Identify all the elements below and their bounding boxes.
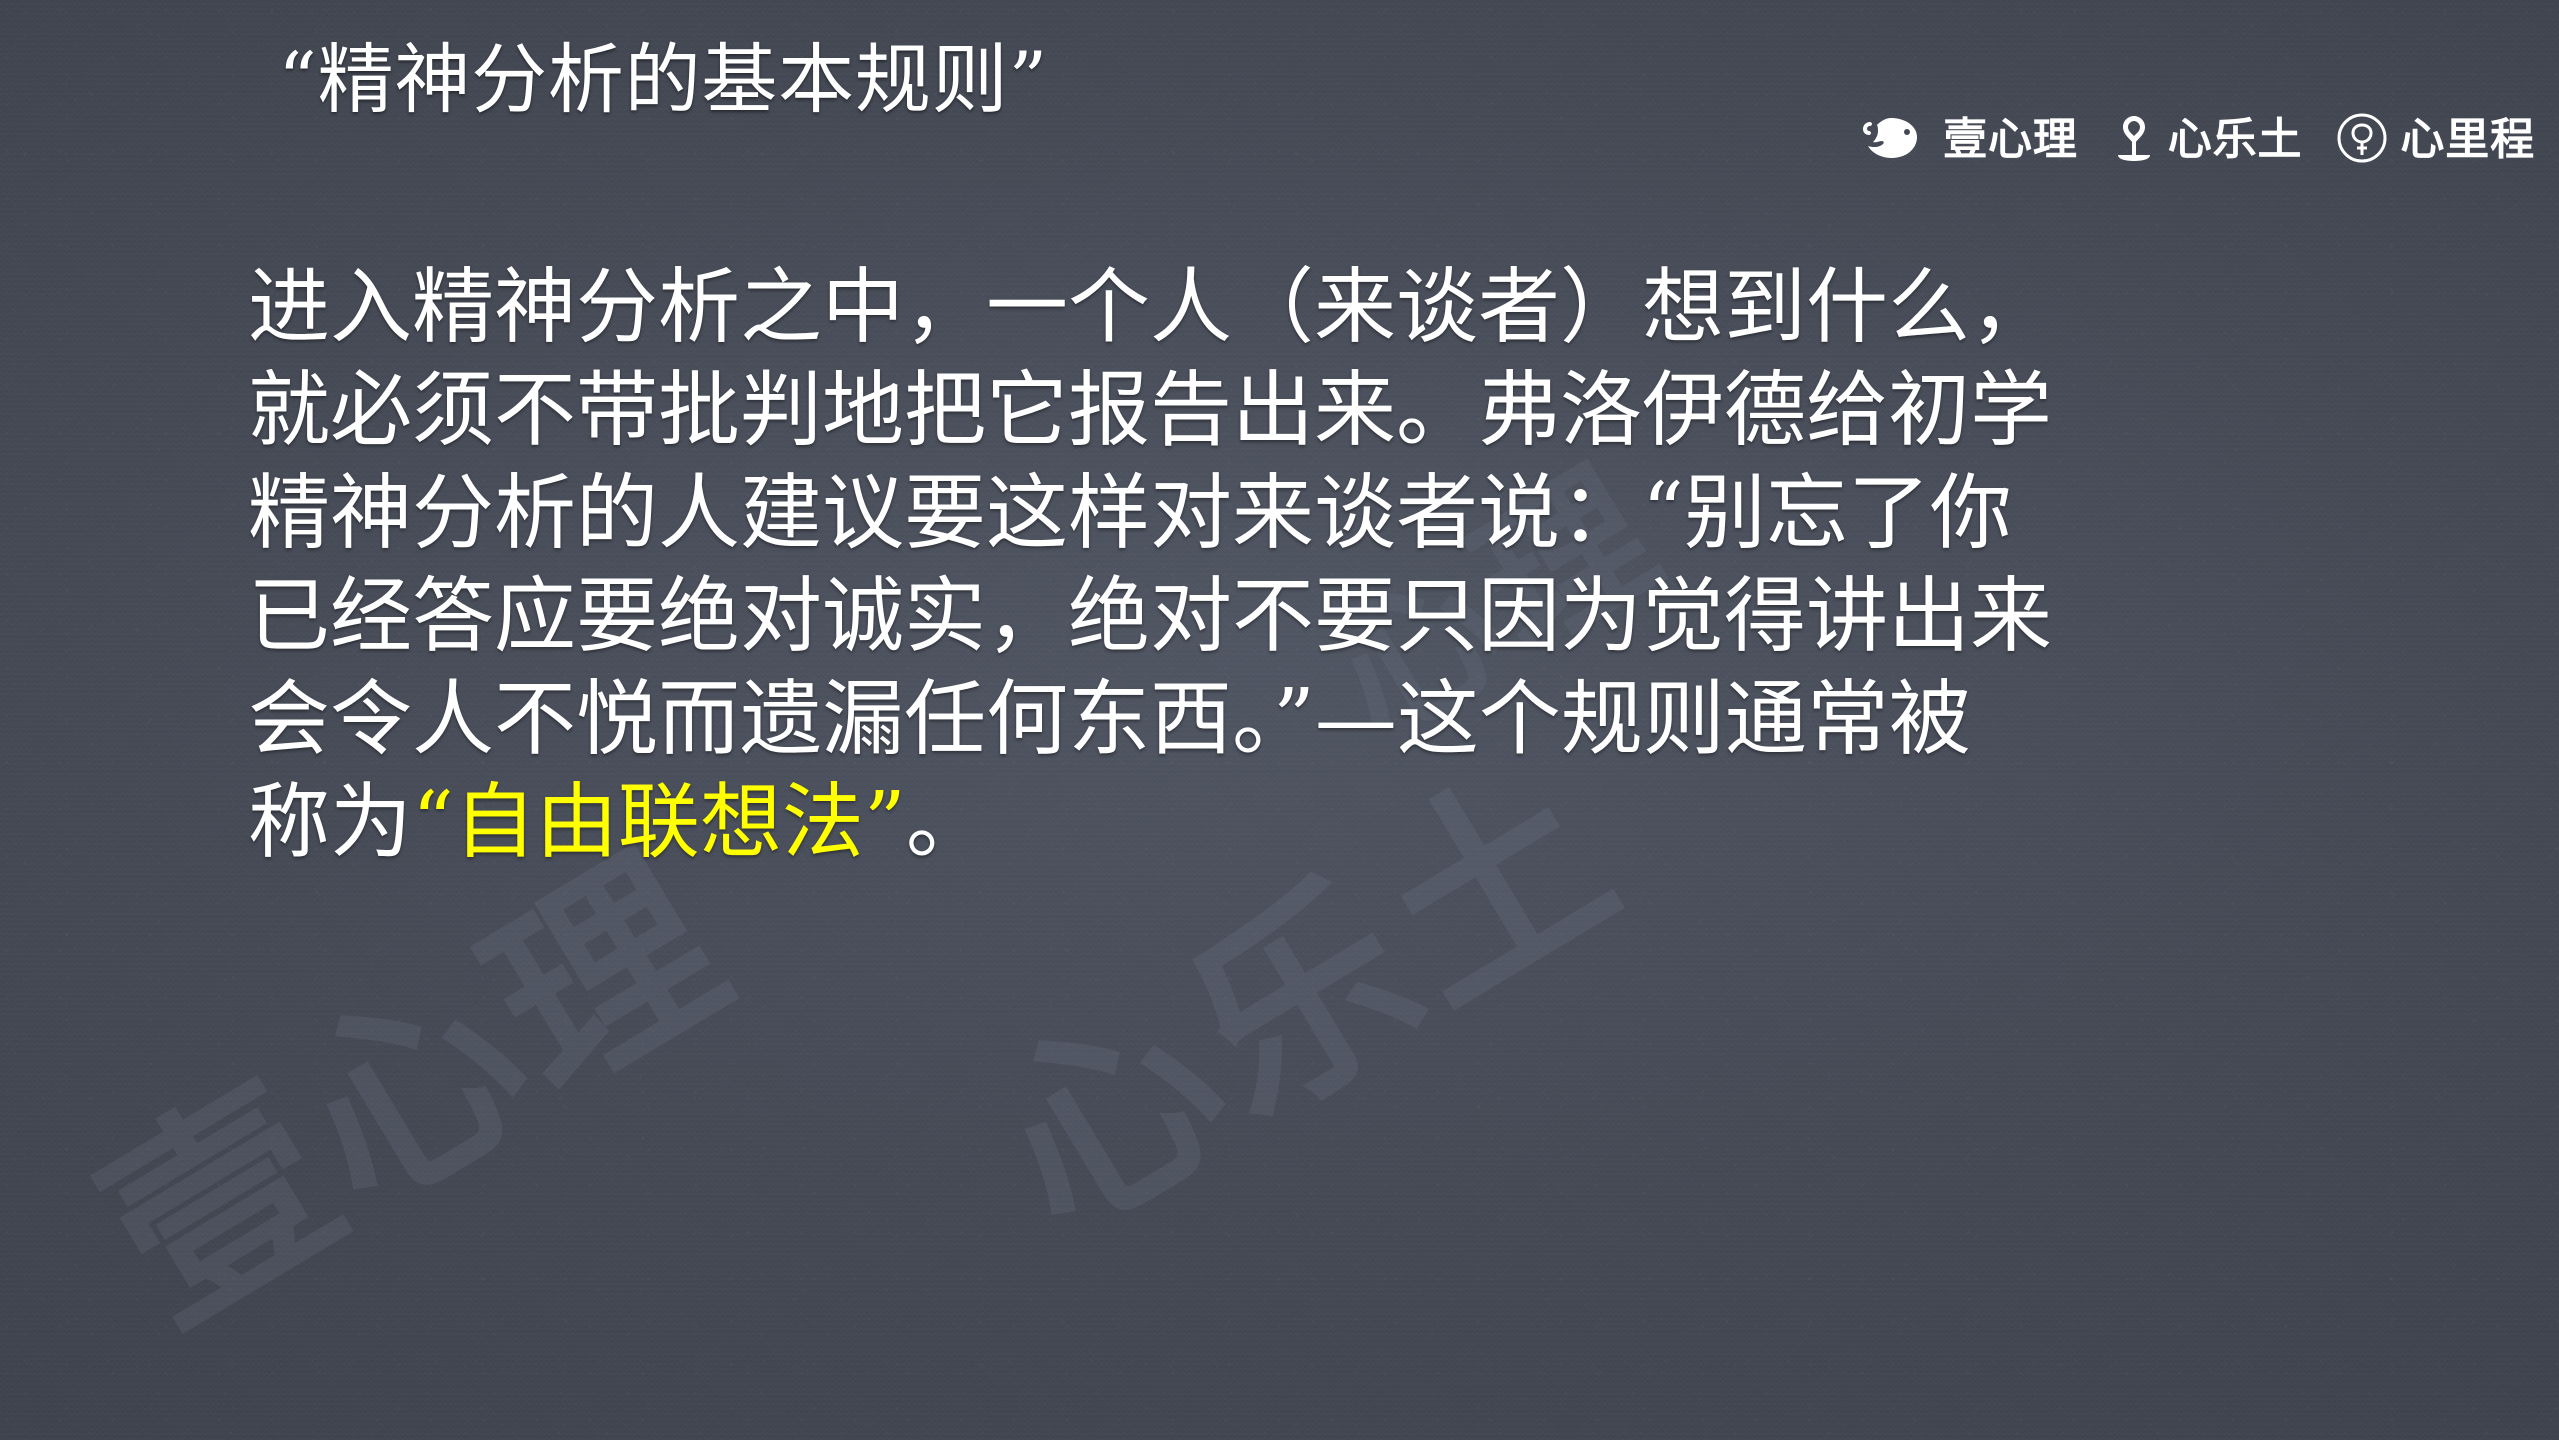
presentation-slide: 壹心理 心乐土 心理 “精神分析的基本规则” 壹心理 [0, 0, 2559, 1440]
whale-icon [1861, 114, 1931, 166]
highlighted-term: “自由联想法” [412, 775, 906, 870]
brand-name-label: 心乐土 [2168, 118, 2303, 162]
brand-xinletu[interactable]: 心乐土 [2112, 113, 2303, 167]
body-line-final: 称为“自由联想法”。 [248, 771, 2488, 874]
body-line: 进入精神分析之中，一个人（来谈者）想到什么， [248, 256, 2488, 359]
brand-xinlicheng[interactable]: 心里程 [2336, 112, 2535, 168]
sprout-icon [2112, 113, 2156, 167]
brand-name-label: 心里程 [2400, 118, 2535, 162]
brand-yixinli[interactable]: 壹心理 [1861, 114, 2078, 166]
body-line: 精神分析的人建议要这样对来谈者说：“别忘了你 [248, 462, 2488, 565]
brand-logo-bar: 壹心理 心乐土 [1861, 112, 2535, 168]
slide-header: “精神分析的基本规则” 壹心理 [0, 0, 2559, 210]
page-title: “精神分析的基本规则” [278, 42, 1048, 118]
body-line: 就必须不带批判地把它报告出来。弗洛伊德给初学 [248, 359, 2488, 462]
body-line: 会令人不悦而遗漏任何东西。”—这个规则通常被 [248, 668, 2488, 771]
body-line: 已经答应要绝对诚实，绝对不要只因为觉得讲出来 [248, 565, 2488, 668]
body-line-suffix: 。 [906, 775, 988, 870]
body-line-prefix: 称为 [248, 775, 412, 870]
slide-body-text: 进入精神分析之中，一个人（来谈者）想到什么， 就必须不带批判地把它报告出来。弗洛… [248, 256, 2488, 874]
key-circle-icon [2336, 112, 2388, 168]
brand-name-label: 壹心理 [1943, 118, 2078, 162]
